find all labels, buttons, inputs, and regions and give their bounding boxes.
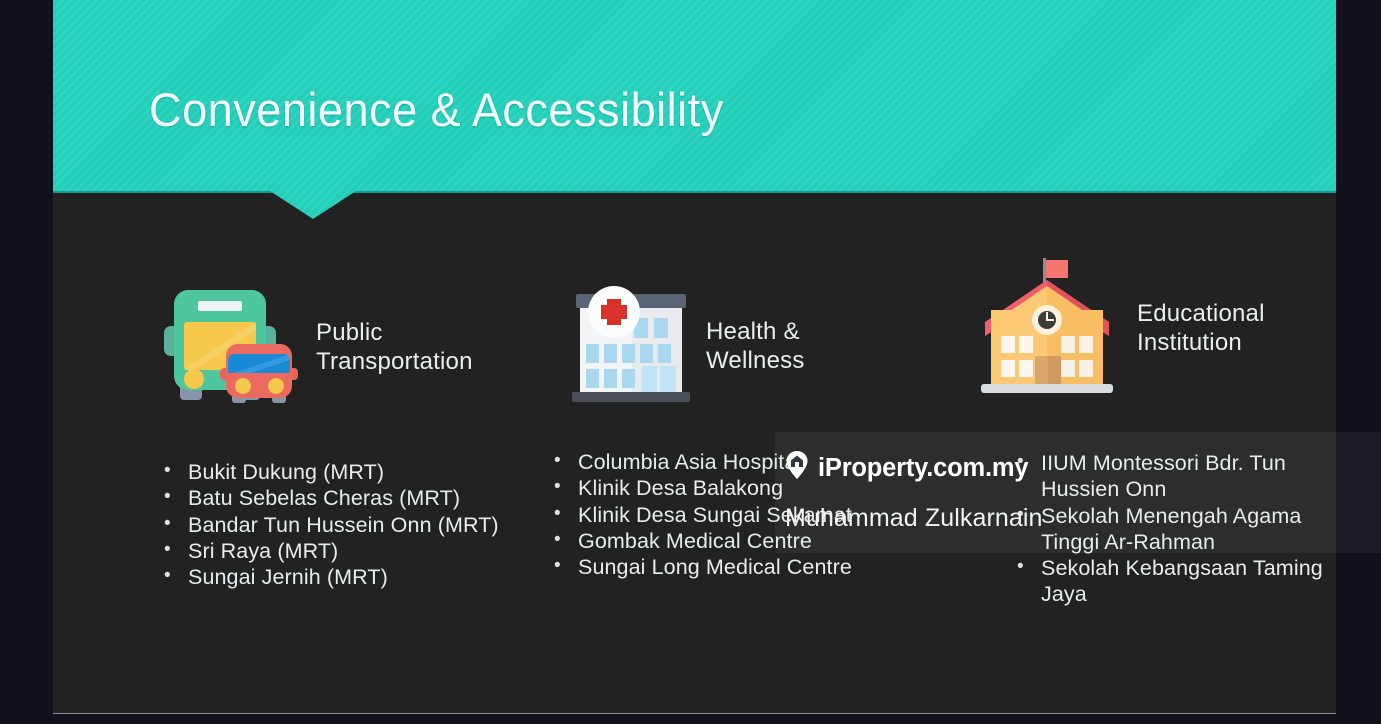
list-item: Klinik Desa Balakong [550, 475, 930, 501]
list-item: IIUM Montessori Bdr. Tun Hussien Onn [1013, 450, 1333, 503]
list-item: Bukit Dukung (MRT) [160, 459, 540, 485]
category-header-public-transportation: Public Transportation [160, 282, 473, 412]
screenshot-root: Convenience & Accessibility [0, 0, 1381, 724]
presentation-slide: Convenience & Accessibility [53, 0, 1336, 714]
list-item: Sungai Jernih (MRT) [160, 564, 540, 590]
category-label-educational-institution: Educational Institution [1137, 299, 1265, 357]
list-item: Klinik Desa Sungai Sekamat [550, 502, 930, 528]
category-header-educational-institution: Educational Institution [973, 250, 1265, 405]
header-notch-triangle [270, 191, 356, 219]
list-item: Batu Sebelas Cheras (MRT) [160, 485, 540, 511]
category-header-health-and-wellness: Health & Wellness [572, 282, 805, 409]
list-item: Sekolah Menengah Agama Tinggi Ar-Rahman [1013, 503, 1333, 556]
school-icon [973, 250, 1121, 405]
list-item: Gombak Medical Centre [550, 528, 930, 554]
list-item: Sekolah Kebangsaan Taming Jaya [1013, 555, 1333, 608]
page-title: Convenience & Accessibility [149, 82, 724, 137]
list-item: Sri Raya (MRT) [160, 538, 540, 564]
poi-list-educational-institution: IIUM Montessori Bdr. Tun Hussien Onn Sek… [1013, 450, 1333, 608]
list-item: Columbia Asia Hospital [550, 449, 930, 475]
poi-list-public-transportation: Bukit Dukung (MRT) Batu Sebelas Cheras (… [160, 459, 540, 590]
hospital-icon [572, 282, 690, 409]
list-item: Bandar Tun Hussein Onn (MRT) [160, 512, 540, 538]
bus-and-car-icon [160, 282, 300, 412]
list-item: Sungai Long Medical Centre [550, 554, 930, 580]
category-label-health-and-wellness: Health & Wellness [706, 317, 805, 375]
category-label-public-transportation: Public Transportation [316, 318, 473, 376]
poi-list-health-and-wellness: Columbia Asia Hospital Klinik Desa Balak… [550, 449, 930, 580]
